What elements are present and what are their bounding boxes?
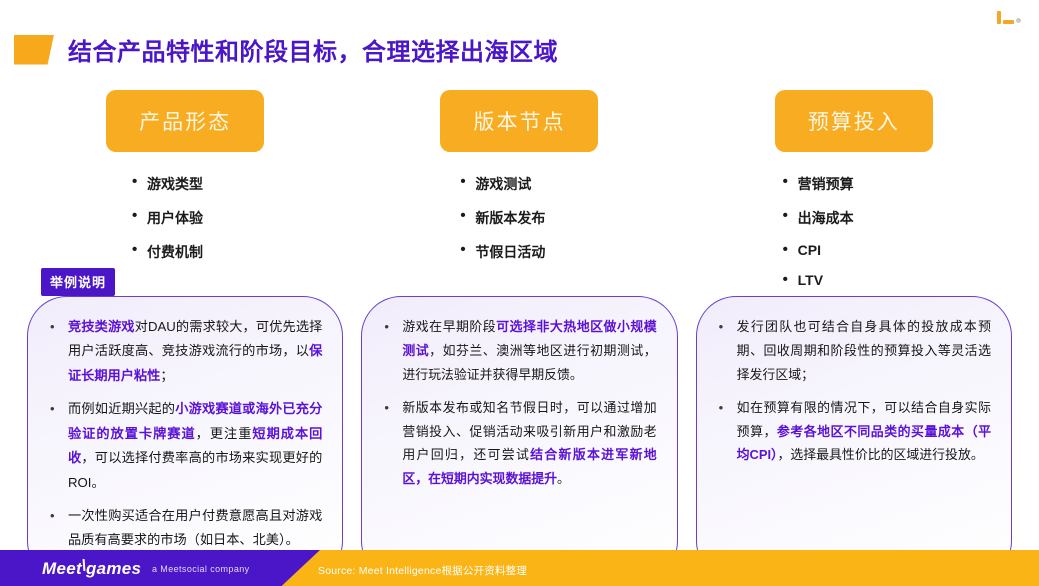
logo-dot [1016,18,1021,23]
body-text: 发行团队也可结合自身具体的投放成本预期、回收周期和阶段性的预算投入等灵活选择发行… [737,319,991,382]
footer-brand-tick-icon [83,559,86,571]
body-text: 。 [557,471,570,486]
footer-brand-right: games [86,559,141,579]
example-badge: 举例说明 [41,268,115,296]
body-text: 而例如近期兴起的 [68,401,175,416]
card-list-item: 一次性购买适合在用户付费意愿高且对游戏品质有高要求的市场（如日本、北美）。 [44,504,322,553]
body-text: 一次性购买适合在用户付费意愿高且对游戏品质有高要求的市场（如日本、北美）。 [68,508,322,547]
meet-logo-mark-icon [997,8,1027,24]
card-list-item: 游戏在早期阶段可选择非大热地区做小规模测试，如芬兰、澳洲等地区进行初期测试，进行… [378,315,656,387]
card-list-item: 发行团队也可结合自身具体的投放成本预期、回收周期和阶段性的预算投入等灵活选择发行… [713,315,991,387]
column-version-node: 版本节点 游戏测试 新版本发布 节假日活动 [362,90,676,302]
highlighted-text: 竞技类游戏 [68,319,135,334]
logo-bar-vertical [997,11,1001,24]
list-item: 付费机制 [132,242,342,262]
pill-version-node[interactable]: 版本节点 [440,90,598,152]
body-text: ，可以选择付费率高的市场来实现更好的ROI。 [68,450,322,489]
list-item: 用户体验 [132,208,342,228]
footer-tagline: a Meetsocial company [152,564,250,574]
title-row: 结合产品特性和阶段目标，合理选择出海区域 [14,32,558,67]
card-list: 游戏在早期阶段可选择非大热地区做小规模测试，如芬兰、澳洲等地区进行初期测试，进行… [378,315,656,491]
detail-card-version-node: 游戏在早期阶段可选择非大热地区做小规模测试，如芬兰、澳洲等地区进行初期测试，进行… [361,296,677,581]
footer-source: Source: Meet Intelligence根据公开资料整理 [318,563,527,578]
logo-bar-horizontal [1003,20,1014,24]
bullet-list-product-form: 游戏类型 用户体验 付费机制 [28,174,342,276]
footer: Meet games a Meetsocial company Source: … [0,550,1039,586]
card-list: 竞技类游戏对DAU的需求较大，可优先选择用户活跃度高、竞技游戏流行的市场，以保证… [44,315,322,553]
list-item: LTV [783,272,1011,288]
title-marker-shape [14,35,54,65]
list-item: 节假日活动 [460,242,676,262]
card-list-item: 新版本发布或知名节假日时，可以通过增加营销投入、促销活动来吸引新用户和激励老用户… [378,396,656,492]
bullet-list-budget-input: 营销预算 出海成本 CPI LTV [697,174,1011,302]
card-list-item: 而例如近期兴起的小游戏赛道或海外已充分验证的放置卡牌赛道，更注重短期成本回收，可… [44,397,322,495]
body-text: 游戏在早期阶段 [402,319,496,334]
body-text: ，更注重 [196,426,253,441]
card-list: 发行团队也可结合自身具体的投放成本预期、回收周期和阶段性的预算投入等灵活选择发行… [713,315,991,467]
slide-root: 结合产品特性和阶段目标，合理选择出海区域 产品形态 游戏类型 用户体验 付费机制… [0,0,1039,586]
pill-product-form[interactable]: 产品形态 [106,90,264,152]
list-item: 出海成本 [783,208,1011,228]
list-item: 新版本发布 [460,208,676,228]
body-text: ，选择最具性价比的区域进行投放。 [777,447,983,462]
list-item: 游戏类型 [132,174,342,194]
bullet-list-version-node: 游戏测试 新版本发布 节假日活动 [362,174,676,276]
body-text: ，如芬兰、澳洲等地区进行初期测试，进行玩法验证并获得早期反馈。 [402,343,656,382]
detail-card-product-form: 竞技类游戏对DAU的需求较大，可优先选择用户活跃度高、竞技游戏流行的市场，以保证… [27,296,343,581]
body-text: ； [160,368,173,383]
card-list-item: 如在预算有限的情况下，可以结合自身实际预算，参考各地区不同品类的买量成本（平均C… [713,396,991,468]
page-title: 结合产品特性和阶段目标，合理选择出海区域 [68,32,558,67]
footer-brand-logo: Meet games [42,559,141,579]
category-columns: 产品形态 游戏类型 用户体验 付费机制 版本节点 游戏测试 新版本发布 节假日活… [28,90,1011,302]
list-item: CPI [783,242,1011,258]
card-list-item: 竞技类游戏对DAU的需求较大，可优先选择用户活跃度高、竞技游戏流行的市场，以保证… [44,315,322,388]
list-item: 游戏测试 [460,174,676,194]
footer-brand-left: Meet [42,559,82,579]
column-budget-input: 预算投入 营销预算 出海成本 CPI LTV [697,90,1011,302]
detail-cards: 竞技类游戏对DAU的需求较大，可优先选择用户活跃度高、竞技游戏流行的市场，以保证… [27,296,1012,581]
detail-card-budget-input: 发行团队也可结合自身具体的投放成本预期、回收周期和阶段性的预算投入等灵活选择发行… [696,296,1012,581]
pill-budget-input[interactable]: 预算投入 [775,90,933,152]
list-item: 营销预算 [783,174,1011,194]
